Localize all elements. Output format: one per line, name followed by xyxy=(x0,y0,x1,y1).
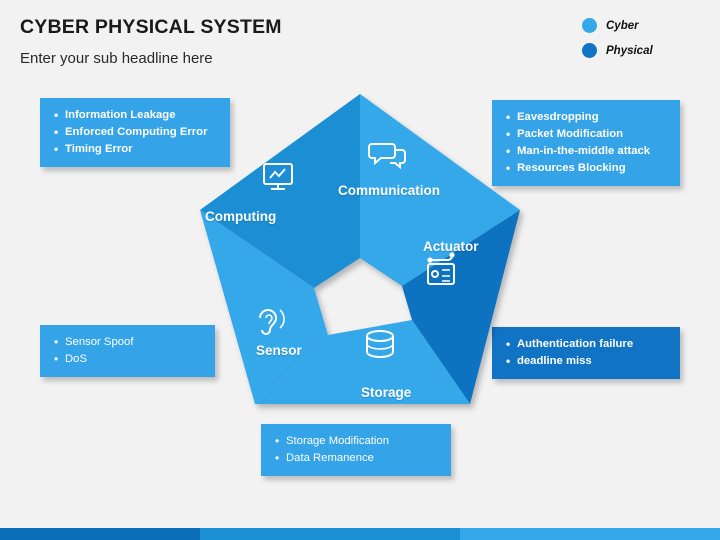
segment-label-actuator: Actuator xyxy=(423,239,479,254)
segment-label-storage: Storage xyxy=(361,385,411,400)
footer-bar-middle xyxy=(200,528,460,540)
legend-label-cyber: Cyber xyxy=(606,20,639,32)
segment-label-communication: Communication xyxy=(338,183,440,198)
footer-bar-right xyxy=(460,528,720,540)
legend-item-physical: Physical xyxy=(582,43,702,58)
legend-item-cyber: Cyber xyxy=(582,18,702,33)
pentagon-diagram: Computing Communication Actuator Storage… xyxy=(180,88,540,428)
legend-dot-physical xyxy=(582,43,597,58)
footer-bar-left xyxy=(0,528,200,540)
page-title: CYBER PHYSICAL SYSTEM xyxy=(20,16,282,39)
legend-label-physical: Physical xyxy=(606,45,653,57)
callout-storage: Storage Modification Data Remanence xyxy=(261,424,451,476)
segment-label-computing: Computing xyxy=(205,209,276,224)
page-subtitle: Enter your sub headline here xyxy=(20,50,213,67)
callout-item: Data Remanence xyxy=(286,450,441,466)
legend: Cyber Physical xyxy=(582,18,702,68)
legend-dot-cyber xyxy=(582,18,597,33)
slide-canvas: CYBER PHYSICAL SYSTEM Enter your sub hea… xyxy=(0,0,720,540)
segment-label-sensor: Sensor xyxy=(256,343,302,358)
callout-item: Storage Modification xyxy=(286,433,441,449)
